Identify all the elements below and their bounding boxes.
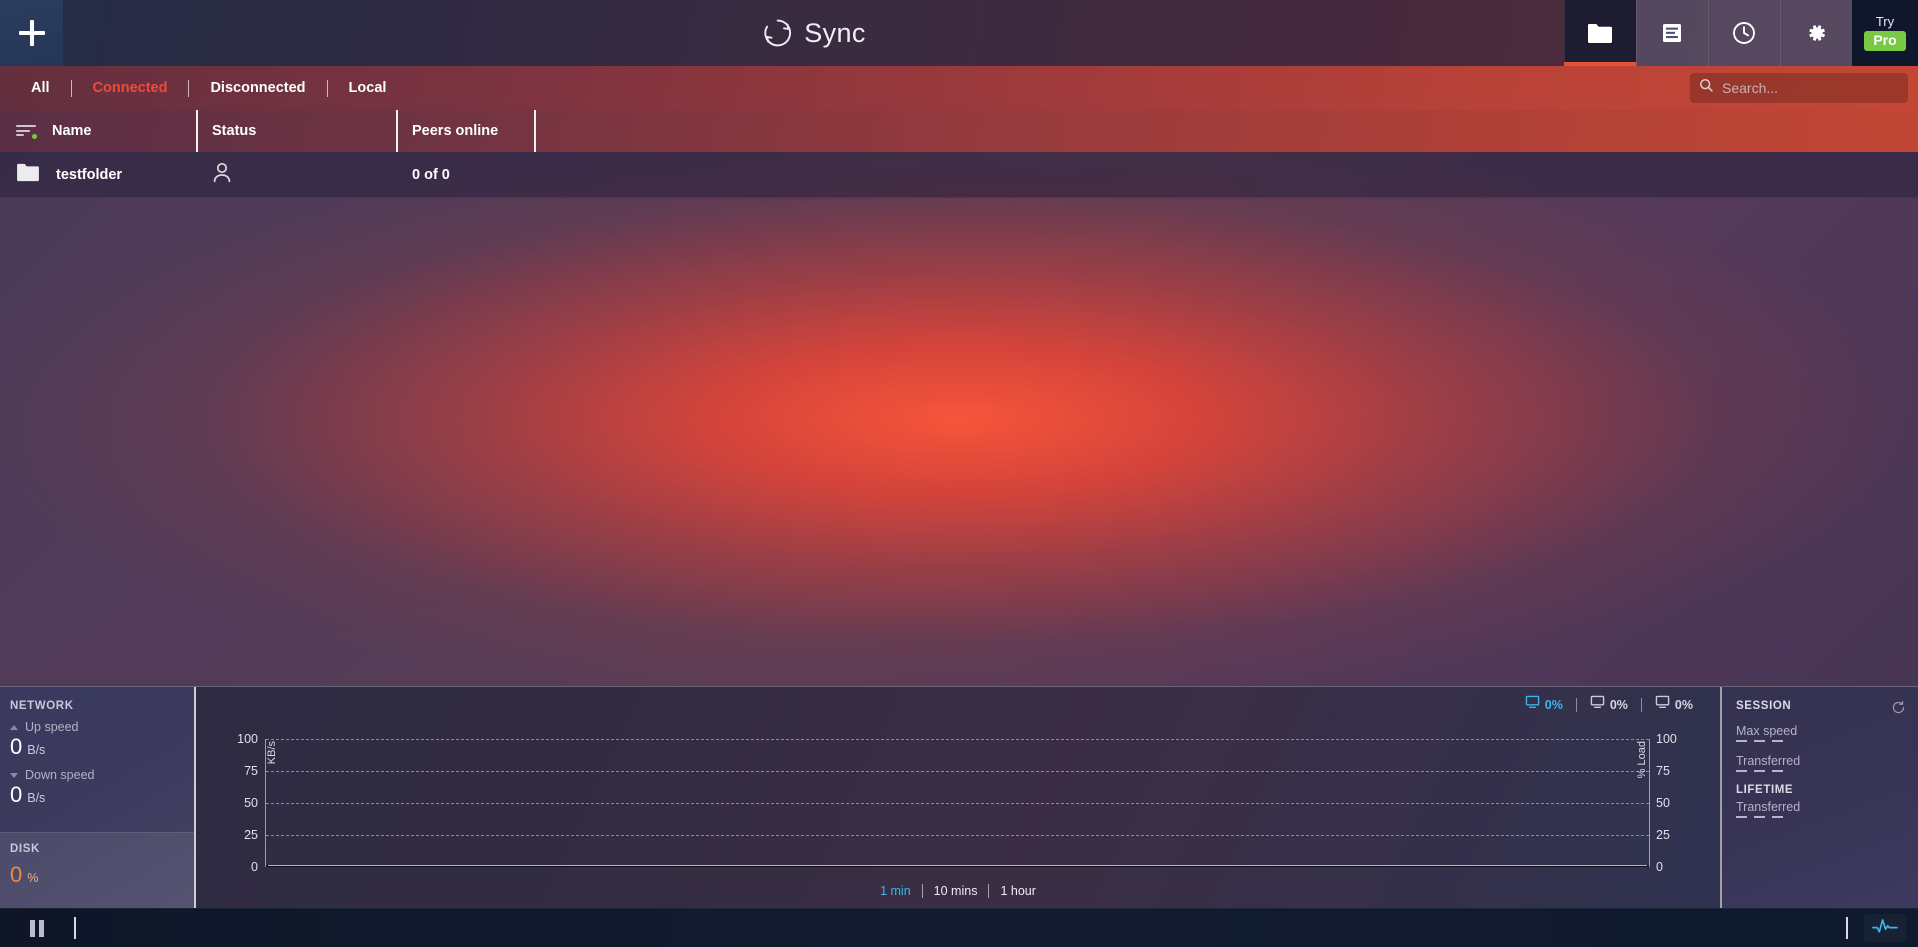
- pro-badge: Pro: [1864, 31, 1905, 51]
- folder-name: testfolder: [56, 167, 122, 183]
- add-folder-button[interactable]: [0, 0, 63, 66]
- header-brand-area: Sync: [63, 0, 1564, 66]
- activity-toggle-button[interactable]: [1864, 914, 1906, 942]
- gridline: [266, 835, 1649, 836]
- pause-button[interactable]: [18, 914, 56, 942]
- plus-icon: [19, 20, 45, 46]
- reset-arrow-icon[interactable]: [1891, 700, 1906, 720]
- table-row[interactable]: testfolder 0 of 0: [0, 152, 1918, 198]
- clock-icon: [1732, 21, 1756, 45]
- gridline: [266, 771, 1649, 772]
- load-indicators: 0% 0%: [1512, 695, 1706, 714]
- y-tick: 50: [244, 796, 258, 810]
- try-label: Try: [1876, 15, 1894, 28]
- nav-history-button[interactable]: [1708, 0, 1780, 66]
- load-value-3: 0%: [1675, 698, 1693, 712]
- monitor-icon: [1590, 695, 1605, 714]
- bottom-panel: NETWORK Up speed 0 B/s Down speed 0 B/s: [0, 686, 1918, 908]
- filter-tab-local[interactable]: Local: [328, 80, 408, 96]
- monitor-icon: [1525, 695, 1540, 714]
- filter-lines-icon[interactable]: [16, 124, 36, 138]
- search-box[interactable]: [1690, 73, 1908, 103]
- y-tick: 0: [251, 860, 258, 874]
- column-header-peers[interactable]: Peers online: [396, 110, 534, 152]
- down-speed-label-row: Down speed: [10, 768, 194, 782]
- column-header-name[interactable]: Name: [0, 110, 196, 152]
- lifetime-transferred-value: [1736, 816, 1906, 818]
- gridline: [266, 803, 1649, 804]
- column-header-name-label: Name: [52, 123, 92, 139]
- lifetime-title: LIFETIME: [1736, 784, 1906, 796]
- search-icon: [1699, 78, 1714, 98]
- filter-tabs: All Connected Disconnected Local: [0, 80, 407, 97]
- brand: Sync: [761, 17, 866, 49]
- lifetime-transferred-label: Transferred: [1736, 800, 1906, 814]
- gear-icon: [1804, 21, 1828, 45]
- range-1-min[interactable]: 1 min: [869, 884, 922, 898]
- column-header-status[interactable]: Status: [196, 110, 396, 152]
- session-transferred-value: [1736, 770, 1906, 772]
- down-speed-label: Down speed: [25, 768, 95, 782]
- session-max-speed-label: Max speed: [1736, 724, 1906, 738]
- table-header: Name Status Peers online: [0, 110, 1918, 152]
- status-bar: [0, 908, 1918, 947]
- network-panel: NETWORK Up speed 0 B/s Down speed 0 B/s: [0, 687, 196, 908]
- down-speed-value-row: 0 B/s: [10, 783, 194, 807]
- arrow-up-icon: [10, 725, 18, 730]
- session-panel: SESSION Max speed Transferred LIFETIME T…: [1722, 687, 1918, 908]
- up-speed-value-row: 0 B/s: [10, 735, 194, 759]
- load-indicator-2[interactable]: 0%: [1577, 695, 1641, 714]
- session-max-speed-value: [1736, 740, 1906, 742]
- session-transferred-label: Transferred: [1736, 754, 1906, 768]
- column-header-status-label: Status: [212, 123, 256, 139]
- divider: [74, 917, 76, 939]
- row-name-cell: testfolder: [0, 152, 196, 197]
- column-header-peers-label: Peers online: [412, 123, 498, 139]
- down-speed-value: 0: [10, 783, 22, 807]
- pause-icon: [30, 920, 44, 937]
- y2-tick: 25: [1656, 828, 1670, 842]
- person-icon: [212, 162, 232, 188]
- chart-grid: [265, 739, 1650, 867]
- filter-tab-all[interactable]: All: [10, 80, 71, 96]
- load-indicator-3[interactable]: 0%: [1642, 695, 1706, 714]
- disk-title: DISK: [10, 843, 194, 855]
- y-tick: 100: [237, 732, 258, 746]
- traffic-chart-panel: 0% 0%: [196, 687, 1722, 908]
- filter-tab-disconnected[interactable]: Disconnected: [189, 80, 326, 96]
- app-title: Sync: [804, 18, 866, 49]
- folder-list-area: testfolder 0 of 0: [0, 152, 1918, 686]
- chart-plot: 100 75 50 25 0 KB/s 100 75 50 25 0 % Loa…: [196, 717, 1720, 908]
- disk-panel: DISK 0 %: [0, 832, 194, 908]
- app-header: Sync: [0, 0, 1918, 66]
- y-tick: 25: [244, 828, 258, 842]
- up-speed-value: 0: [10, 735, 22, 759]
- nav-preferences-button[interactable]: [1780, 0, 1852, 66]
- disk-unit: %: [27, 871, 38, 885]
- nav-devices-button[interactable]: [1636, 0, 1708, 66]
- activity-pulse-icon: [1872, 918, 1898, 939]
- disk-value-row: 0 %: [10, 863, 194, 887]
- y2-tick: 0: [1656, 860, 1663, 874]
- sync-app-window: Sync: [0, 0, 1918, 947]
- y-tick: 75: [244, 764, 258, 778]
- y2-tick: 100: [1656, 732, 1677, 746]
- up-speed-label-row: Up speed: [10, 720, 194, 734]
- nav-folders-button[interactable]: [1564, 0, 1636, 66]
- down-speed-unit: B/s: [27, 791, 45, 805]
- filter-bar: All Connected Disconnected Local: [0, 66, 1918, 110]
- network-title: NETWORK: [10, 700, 194, 712]
- folder-icon: [1587, 22, 1613, 44]
- arrow-down-icon: [10, 773, 18, 778]
- divider: [1846, 917, 1848, 939]
- monitor-icon: [1655, 695, 1670, 714]
- sync-circular-arrows-icon: [761, 17, 793, 49]
- row-status-cell: [196, 152, 396, 197]
- search-input[interactable]: [1722, 80, 1903, 96]
- y2-tick: 50: [1656, 796, 1670, 810]
- load-value-1: 0%: [1545, 698, 1563, 712]
- status-bar-right: [1846, 914, 1918, 942]
- try-pro-button[interactable]: Try Pro: [1852, 0, 1918, 66]
- up-speed-unit: B/s: [27, 743, 45, 757]
- column-header-filler: [534, 110, 1918, 152]
- row-peers-cell: 0 of 0: [396, 152, 534, 197]
- up-speed-label: Up speed: [25, 720, 79, 734]
- range-10-mins[interactable]: 10 mins: [923, 884, 989, 898]
- load-value-2: 0%: [1610, 698, 1628, 712]
- session-title: SESSION: [1736, 700, 1791, 712]
- row-filler-cell: [534, 152, 1918, 197]
- filter-tab-connected[interactable]: Connected: [72, 80, 189, 96]
- disk-value: 0: [10, 863, 22, 887]
- device-list-icon: [1661, 22, 1683, 44]
- chart-time-range-selector: 1 min 10 mins 1 hour: [196, 884, 1720, 898]
- y2-tick: 75: [1656, 764, 1670, 778]
- chart-series-kbs: [268, 865, 1647, 866]
- header-nav: Try Pro: [1564, 0, 1918, 66]
- gridline: [266, 739, 1649, 740]
- load-indicator-1[interactable]: 0%: [1512, 695, 1576, 714]
- range-1-hour[interactable]: 1 hour: [989, 884, 1046, 898]
- folder-icon: [16, 162, 40, 187]
